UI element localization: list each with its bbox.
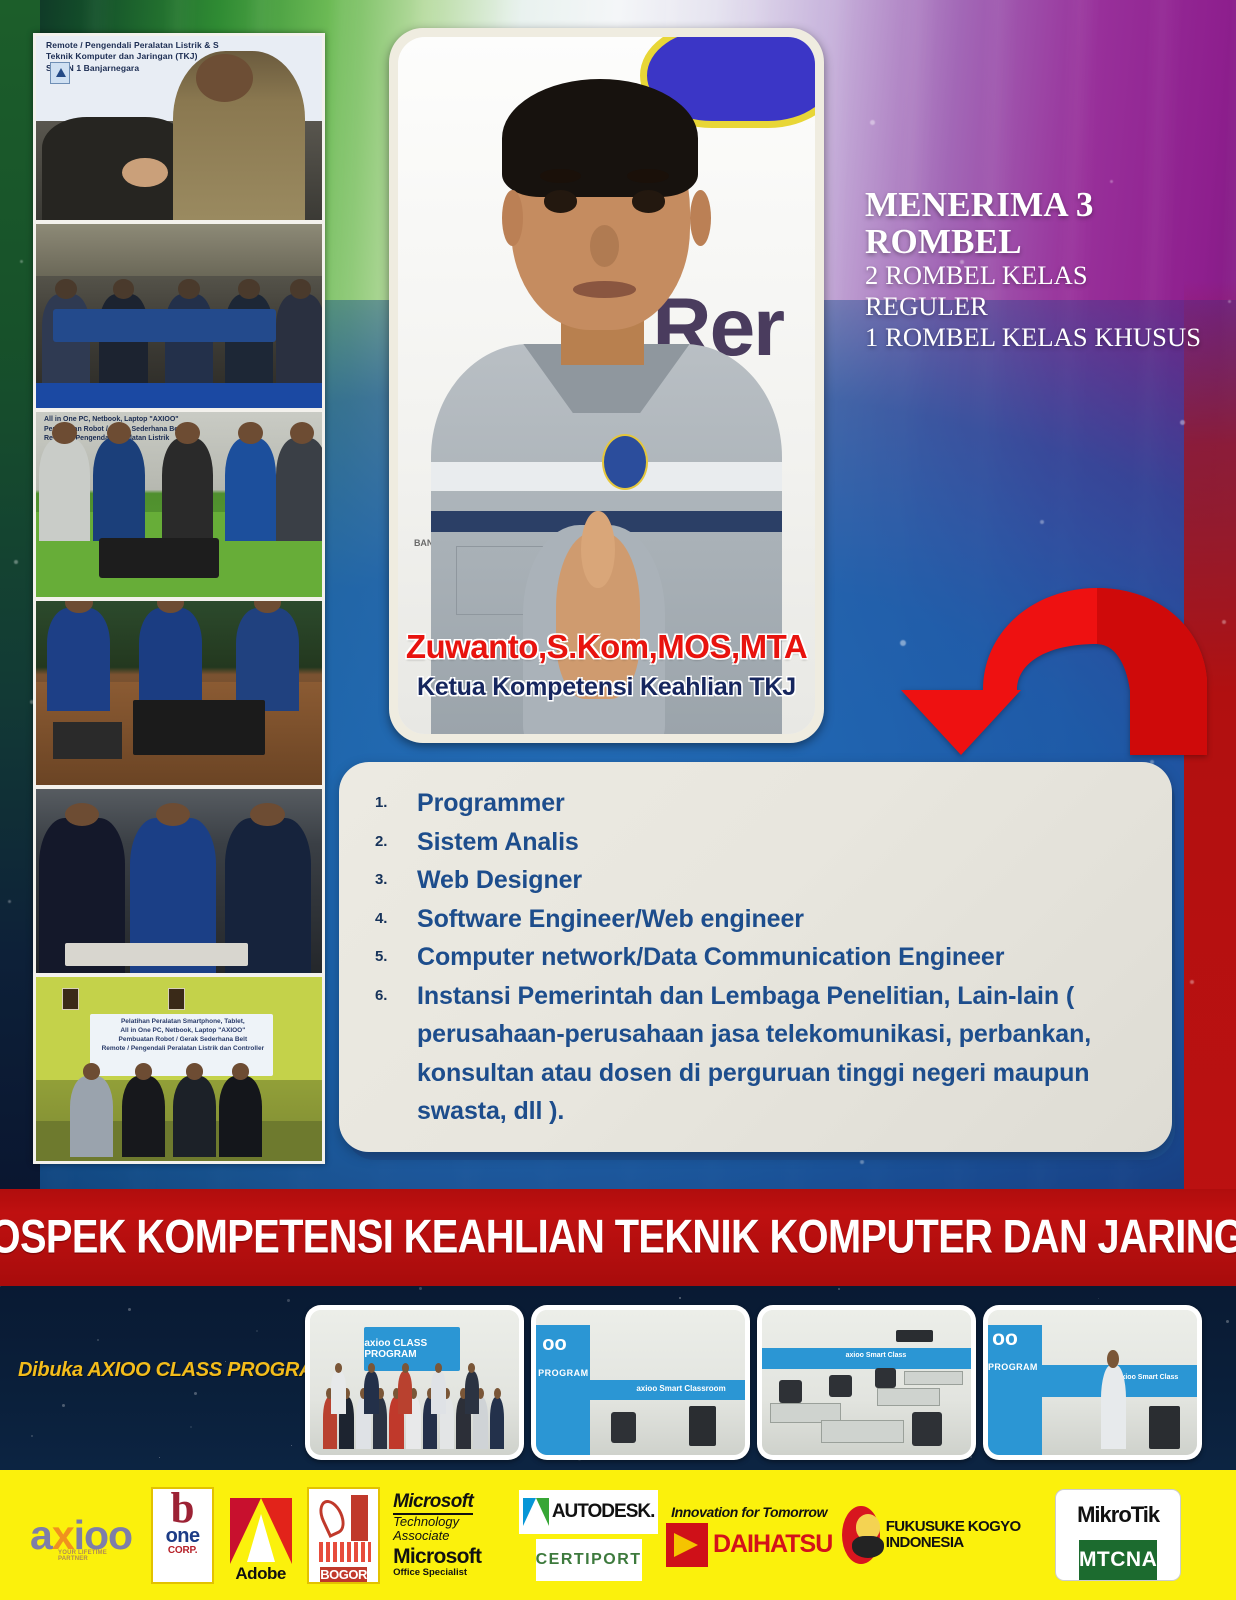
activity-photo-1: Remote / Pengendali Peralatan Listrik & … xyxy=(36,36,322,220)
bogor-tower-icon xyxy=(351,1495,368,1541)
logo-certiport: CERTIPORT xyxy=(536,1539,642,1581)
logo-microsoft-line5: Office Specialist xyxy=(393,1568,467,1578)
logo-microsoft-line3: Associate xyxy=(393,1529,449,1543)
portrait-hair xyxy=(502,79,698,197)
photo2-person xyxy=(276,294,322,382)
cls3-desk xyxy=(877,1388,940,1405)
cls3-chair xyxy=(875,1368,896,1388)
curved-down-arrow-icon xyxy=(885,540,1215,755)
logo-mikrotik-text: MikroTik xyxy=(1077,1502,1159,1528)
logo-daihatsu-row: DAIHATSU xyxy=(666,1523,832,1567)
classroom-photo-2-image: oo PROGRAM axioo Smart Classroom xyxy=(536,1310,745,1455)
cls3-desk xyxy=(821,1420,905,1443)
photo5-table xyxy=(65,943,248,965)
logo-bogor-text: BOGOR xyxy=(320,1567,367,1582)
photo6-portrait-frame xyxy=(62,988,79,1010)
logo-fukusuke-text: FUKUSUKE KOGYO INDONESIA xyxy=(886,1519,1042,1552)
bogor-mark-icon xyxy=(313,1493,374,1564)
cls2-pc-tower xyxy=(689,1406,716,1447)
photo6-portrait-frame xyxy=(168,988,185,1010)
photo6-person xyxy=(173,1076,216,1157)
photo4-person xyxy=(139,608,202,711)
cls4-person xyxy=(1101,1365,1126,1449)
portrait-ear xyxy=(690,190,711,246)
autodesk-mark-icon xyxy=(523,1498,549,1526)
photo2-foreground xyxy=(36,383,322,409)
logo-axioo-a: a xyxy=(30,1512,52,1559)
mikrotik-top: MikroTik xyxy=(1077,1490,1159,1540)
photo4-person xyxy=(236,608,299,711)
photo3-equipment xyxy=(99,538,219,579)
portrait-nose xyxy=(590,225,619,267)
logo-daihatsu-text: DAIHATSU xyxy=(713,1530,832,1559)
portrait-ear xyxy=(502,190,523,246)
list-item: Programmer xyxy=(369,784,1146,823)
logo-microsoft-line4: Microsoft xyxy=(393,1546,481,1568)
logo-adobe: Adobe xyxy=(227,1487,294,1584)
cls3-projector xyxy=(896,1330,934,1342)
cls1-axioo-banner: axioo CLASS PROGRAM xyxy=(364,1327,460,1371)
cls3-chair xyxy=(779,1380,802,1403)
logo-daihatsu-slogan: Innovation for Tomorrow xyxy=(671,1504,827,1520)
logo-daihatsu: Innovation for Tomorrow DAIHATSU xyxy=(669,1485,829,1585)
banner-title: PROSPEK KOMPETENSI KEAHLIAN TEKNIK KOMPU… xyxy=(0,1211,1236,1265)
logo-mikrotik-cert: MTCNA xyxy=(1079,1548,1157,1572)
logo-axioo-tagline: YOUR LIFETIME PARTNER xyxy=(58,1550,138,1562)
logo-microsoft-line1: Microsoft xyxy=(393,1492,473,1515)
logo-autodesk-text: AUTODESK. xyxy=(552,1501,655,1523)
portrait-mouth xyxy=(573,281,636,298)
photo4-disassembled-laptop xyxy=(133,700,265,755)
photo3-person xyxy=(225,438,276,541)
portrait-name: Zuwanto,S.Kom,MOS,MTA xyxy=(389,628,824,666)
portrait-school-badge-icon xyxy=(602,434,648,490)
logo-bone-b: b xyxy=(171,1491,195,1528)
adobe-mark-icon xyxy=(230,1498,292,1564)
classroom-photo-3: axioo Smart Class xyxy=(757,1305,976,1460)
logo-bone-corp-text: CORP. xyxy=(168,1545,197,1556)
cls4-stripe-label: axioo Smart Class xyxy=(1118,1374,1179,1381)
logo-microsoft: Microsoft Technology Associate Microsoft… xyxy=(393,1485,508,1585)
photo1-school-logo-icon xyxy=(50,62,70,84)
logo-bone-one: one xyxy=(166,1527,200,1545)
logo-bogor: BOGOR xyxy=(307,1487,380,1584)
photo6-person xyxy=(122,1076,165,1157)
cls3-stripe-label: axioo Smart Class xyxy=(846,1352,907,1359)
portrait-role: Ketua Kompetensi Keahlian TKJ xyxy=(389,673,824,702)
portrait-eye xyxy=(544,190,577,212)
photo4-person xyxy=(47,608,110,711)
portrait-eye xyxy=(632,190,665,212)
headline-block: MENERIMA 3 ROMBEL 2 ROMBEL KELAS REGULER… xyxy=(865,186,1215,352)
activity-photo-5 xyxy=(36,789,322,973)
daihatsu-mark-icon xyxy=(666,1523,708,1567)
photo2-wall xyxy=(36,224,322,276)
cls3-chair xyxy=(829,1375,852,1397)
cls4-pc-tower xyxy=(1149,1406,1180,1450)
portrait-thumbs-up-icon xyxy=(581,511,614,588)
activity-photo-6: Pelatihan Peralatan Smartphone, Tablet, … xyxy=(36,977,322,1161)
photo1-student-silhouette xyxy=(42,117,191,220)
classroom-photo-row: axioo CLASS PROGRAM xyxy=(305,1305,1202,1460)
logo-microsoft-line2: Technology xyxy=(393,1515,459,1529)
mikrotik-cert-band: MTCNA xyxy=(1079,1540,1157,1580)
list-item: Instansi Pemerintah dan Lembaga Peneliti… xyxy=(369,977,1146,1131)
classroom-photo-1-image: axioo CLASS PROGRAM xyxy=(310,1310,519,1455)
list-item: Software Engineer/Web engineer xyxy=(369,900,1146,939)
logo-mikrotik: MikroTik MTCNA xyxy=(1055,1489,1181,1581)
cls2-oo-logo-icon: oo xyxy=(542,1333,566,1356)
headline-line-2: 2 ROMBEL KELAS REGULER xyxy=(865,260,1215,321)
photo2-table xyxy=(53,309,276,342)
partner-logo-strip: axioo YOUR LIFETIME PARTNER b one CORP. … xyxy=(0,1470,1236,1600)
classroom-photo-3-image: axioo Smart Class xyxy=(762,1310,971,1455)
photo3-person xyxy=(276,438,322,541)
cls3-chair xyxy=(912,1412,941,1447)
activity-photo-3: All in One PC, Netbook, Laptop "AXIOO" P… xyxy=(36,412,322,596)
classroom-photo-1: axioo CLASS PROGRAM xyxy=(305,1305,524,1460)
activity-photo-strip: Remote / Pengendali Peralatan Listrik & … xyxy=(33,33,325,1164)
list-item: Computer network/Data Communication Engi… xyxy=(369,938,1146,977)
classroom-photo-4: oo PROGRAM axioo Smart Class xyxy=(983,1305,1202,1460)
fukusuke-mascot-icon xyxy=(842,1506,880,1564)
cls2-chair xyxy=(611,1412,636,1444)
photo6-person xyxy=(219,1076,262,1157)
cls3-desk xyxy=(904,1371,963,1386)
red-title-banner: PROSPEK KOMPETENSI KEAHLIAN TEKNIK KOMPU… xyxy=(0,1189,1236,1286)
cls2-stripe-label: axioo Smart Classroom xyxy=(636,1384,725,1393)
photo6-person xyxy=(70,1076,113,1157)
poster-root: Remote / Pengendali Peralatan Listrik & … xyxy=(0,0,1236,1600)
photo3-person xyxy=(93,438,144,541)
portrait-frame: Rer BHAKTI BANJARNEGARA Zuwanto,S.Kom,MO… xyxy=(389,28,824,743)
cls2-program-label: PROGRAM xyxy=(538,1368,589,1378)
logo-adobe-text: Adobe xyxy=(235,1564,285,1584)
prospect-panel: Programmer Sistem Analis Web Designer So… xyxy=(339,762,1172,1152)
headline-line-3: 1 ROMBEL KELAS KHUSUS xyxy=(865,322,1215,353)
logo-fukusuke: FUKUSUKE KOGYO INDONESIA xyxy=(842,1485,1042,1585)
cls4-oo-logo-icon: oo xyxy=(992,1327,1018,1351)
list-item: Web Designer xyxy=(369,861,1146,900)
activity-photo-4 xyxy=(36,601,322,785)
list-item: Sistem Analis xyxy=(369,823,1146,862)
photo4-laptop xyxy=(53,722,122,759)
photo1-hand xyxy=(122,158,168,187)
logo-bone-corp: b one CORP. xyxy=(151,1487,214,1584)
bogor-grid-icon xyxy=(319,1542,371,1562)
classroom-photo-2: oo PROGRAM axioo Smart Classroom xyxy=(531,1305,750,1460)
headline-line-1: MENERIMA 3 ROMBEL xyxy=(865,186,1215,260)
classroom-photo-4-image: oo PROGRAM axioo Smart Class xyxy=(988,1310,1197,1455)
logo-autodesk-certiport: AUTODESK. CERTIPORT xyxy=(521,1485,656,1585)
photo3-person xyxy=(162,438,213,541)
bogor-drop-icon xyxy=(315,1496,350,1538)
activity-photo-2 xyxy=(36,224,322,408)
cls4-program-label: PROGRAM xyxy=(988,1362,1038,1372)
logo-certiport-text: CERTIPORT xyxy=(536,1551,642,1569)
photo6-banner-text: Pelatihan Peralatan Smartphone, Tablet, … xyxy=(96,1017,269,1053)
logo-autodesk: AUTODESK. xyxy=(519,1490,659,1534)
photo3-person xyxy=(39,438,90,541)
prospect-list: Programmer Sistem Analis Web Designer So… xyxy=(369,784,1146,1131)
logo-axioo: axioo YOUR LIFETIME PARTNER xyxy=(30,1512,138,1559)
